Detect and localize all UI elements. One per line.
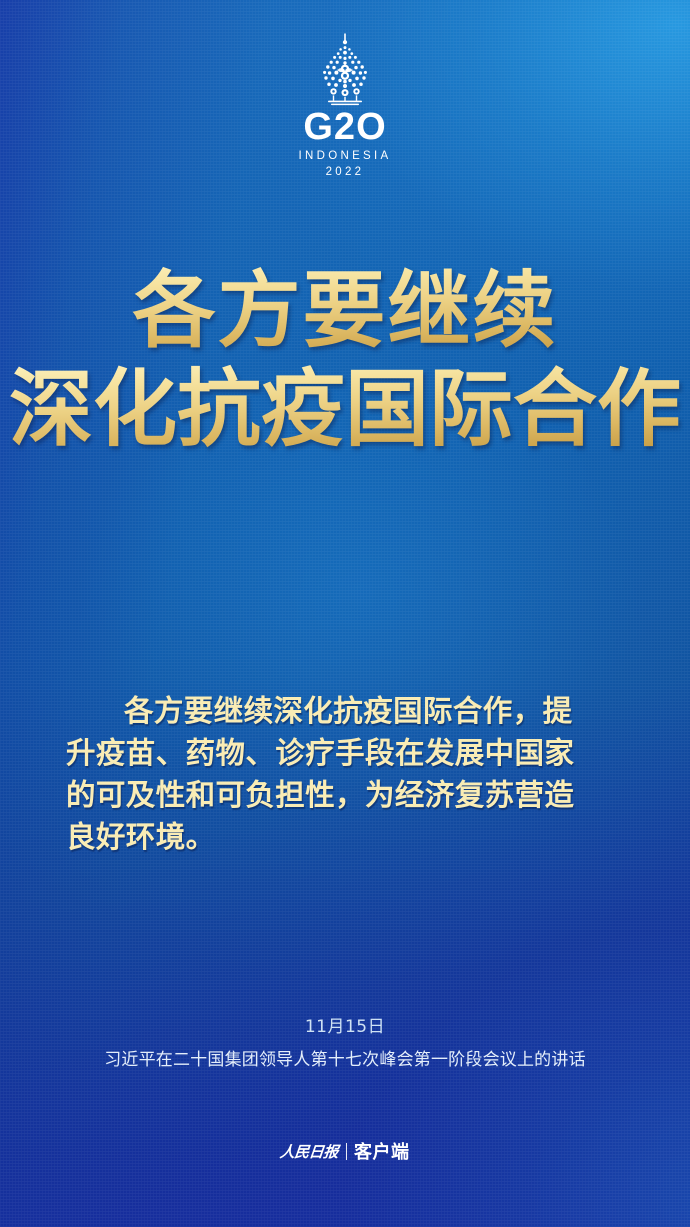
body-line-4: 良好环境。	[66, 816, 624, 858]
headline-line-2: 深化抗疫国际合作	[0, 360, 690, 459]
footer-meta: 11月15日 习近平在二十国集团领导人第十七次峰会第一阶段会议上的讲话	[0, 1015, 690, 1073]
batik-ornament-icon	[306, 33, 384, 107]
g20-country-text: INDONESIA	[299, 151, 392, 163]
body-line-2: 升疫苗、药物、诊疗手段在发展中国家	[66, 732, 624, 774]
brand-divider	[346, 1143, 348, 1160]
brand-lockup: 人民日报 客户端	[0, 1138, 690, 1164]
g20-year-text: 2022	[326, 167, 365, 179]
body-line-1: 各方要继续深化抗疫国际合作，提	[66, 690, 624, 732]
body-paragraph: 各方要继续深化抗疫国际合作，提 升疫苗、药物、诊疗手段在发展中国家 的可及性和可…	[66, 690, 624, 858]
headline: 各方要继续 深化抗疫国际合作	[0, 262, 690, 459]
peoples-daily-logo: 人民日报	[279, 1141, 339, 1162]
footer-date: 11月15日	[0, 1015, 690, 1041]
body-line-3: 的可及性和可负担性，为经济复苏营造	[66, 774, 624, 816]
poster-canvas: G2O INDONESIA 2022 各方要继续 深化抗疫国际合作 各方要继续深…	[0, 0, 690, 1227]
footer-caption: 习近平在二十国集团领导人第十七次峰会第一阶段会议上的讲话	[0, 1047, 690, 1073]
g20-logo: G2O INDONESIA 2022	[0, 33, 690, 178]
g20-wordmark-text: G2O	[303, 108, 386, 146]
headline-line-1: 各方要继续	[0, 262, 690, 360]
brand-app-label: 客户端	[354, 1138, 410, 1164]
